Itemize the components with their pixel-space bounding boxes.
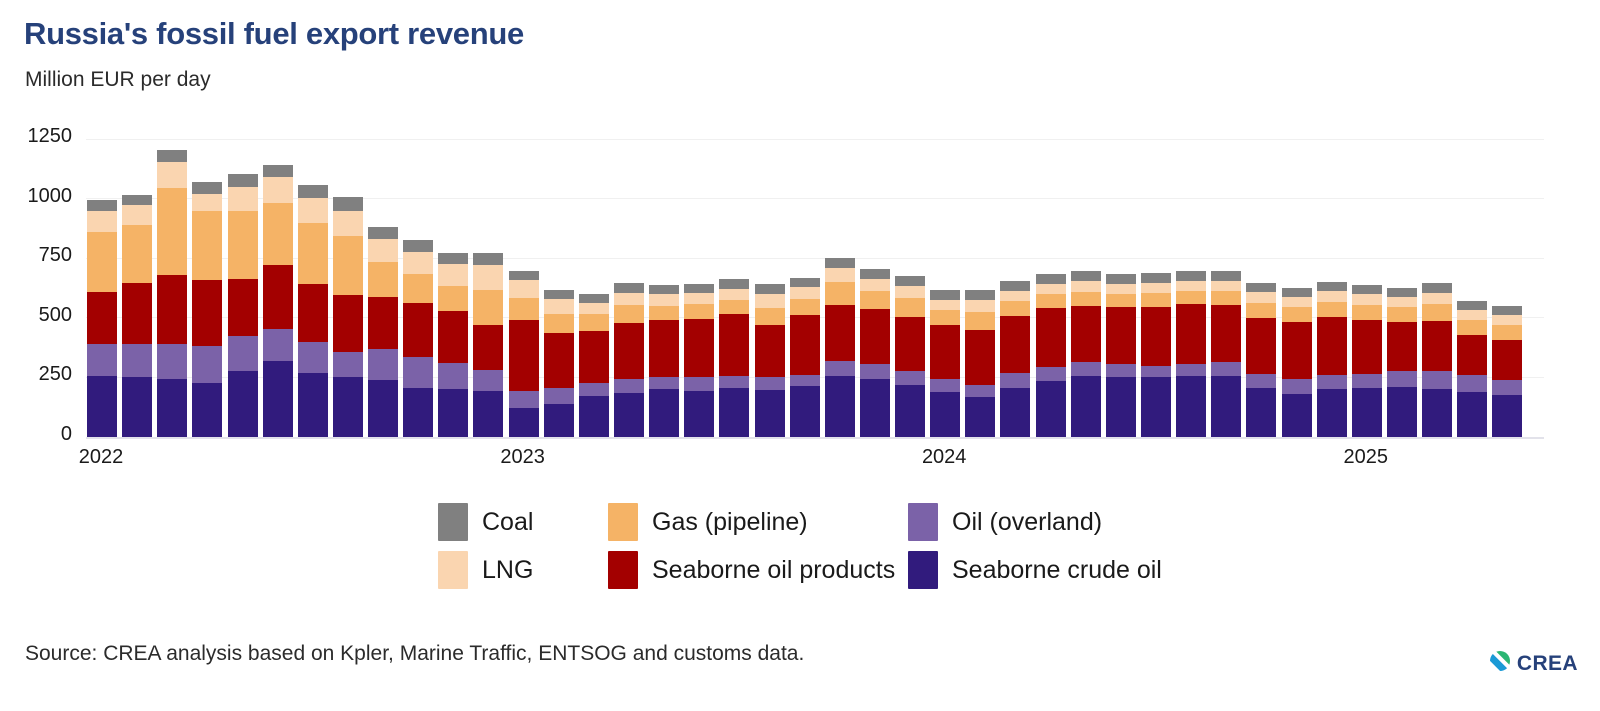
bar-2022-06[interactable] [263, 165, 293, 437]
bar-segment-gas-pipeline [473, 290, 503, 325]
bar-2022-10[interactable] [403, 240, 433, 437]
bar-segment-seaborne-oil-products [1071, 306, 1101, 362]
bar-segment-lng [1317, 291, 1347, 302]
bar-segment-seaborne-crude-oil [368, 380, 398, 437]
bar-segment-gas-pipeline [1352, 305, 1382, 320]
bar-segment-seaborne-crude-oil [544, 404, 574, 437]
bar-segment-seaborne-oil-products [649, 320, 679, 377]
legend-swatch-icon [438, 551, 468, 589]
bar-segment-lng [790, 287, 820, 299]
bar-segment-oil-overland [684, 377, 714, 390]
bar-segment-oil-overland [1000, 373, 1030, 388]
bar-segment-lng [755, 294, 785, 308]
bar-segment-seaborne-crude-oil [614, 393, 644, 437]
bar-segment-oil-overland [87, 344, 117, 376]
legend-label: Seaborne oil products [652, 556, 895, 585]
bar-segment-oil-overland [228, 336, 258, 372]
bar-segment-seaborne-crude-oil [1282, 394, 1312, 437]
bar-segment-gas-pipeline [790, 299, 820, 315]
bar-segment-seaborne-oil-products [509, 320, 539, 390]
bar-segment-seaborne-oil-products [87, 292, 117, 344]
bar-segment-coal [649, 285, 679, 294]
bar-segment-seaborne-crude-oil [1176, 376, 1206, 437]
bar-2023-04[interactable] [614, 283, 644, 437]
bar-segment-oil-overland [1317, 375, 1347, 390]
bar-segment-seaborne-crude-oil [1246, 388, 1276, 437]
bar-segment-gas-pipeline [1492, 325, 1522, 340]
bar-2023-02[interactable] [544, 290, 574, 437]
bar-segment-oil-overland [649, 377, 679, 389]
bar-segment-seaborne-crude-oil [228, 371, 258, 437]
bar-segment-lng [1071, 281, 1101, 292]
bar-2024-12[interactable] [1317, 282, 1347, 437]
bar-segment-seaborne-oil-products [1000, 316, 1030, 373]
bar-segment-gas-pipeline [1211, 291, 1241, 305]
bar-segment-coal [298, 185, 328, 198]
bar-segment-lng [333, 211, 363, 235]
bar-segment-seaborne-oil-products [1492, 340, 1522, 379]
bar-2024-07[interactable] [1141, 273, 1171, 437]
bar-segment-seaborne-oil-products [192, 280, 222, 346]
bar-segment-coal [1352, 285, 1382, 294]
bar-segment-seaborne-crude-oil [1317, 389, 1347, 437]
legend-swatch-icon [608, 551, 638, 589]
bar-segment-seaborne-oil-products [544, 333, 574, 388]
bar-segment-lng [438, 264, 468, 285]
legend-swatch-icon [608, 503, 638, 541]
bar-segment-coal [122, 195, 152, 205]
crea-logo: CREA [1489, 650, 1578, 677]
bar-segment-oil-overland [755, 377, 785, 390]
bar-segment-coal [719, 279, 749, 288]
bar-segment-gas-pipeline [1106, 294, 1136, 307]
bar-2022-04[interactable] [192, 182, 222, 437]
bar-segment-seaborne-oil-products [790, 315, 820, 375]
bar-segment-lng [298, 198, 328, 223]
bar-segment-oil-overland [544, 388, 574, 404]
bar-segment-lng [368, 239, 398, 262]
bar-segment-oil-overland [1492, 380, 1522, 395]
bar-segment-seaborne-oil-products [1211, 305, 1241, 362]
x-tick-label-2022: 2022 [79, 446, 124, 469]
bar-segment-lng [1352, 294, 1382, 305]
bar-segment-oil-overland [579, 383, 609, 397]
bar-segment-seaborne-oil-products [157, 275, 187, 344]
bar-2022-12[interactable] [473, 253, 503, 437]
bar-segment-seaborne-crude-oil [509, 408, 539, 437]
bar-segment-oil-overland [122, 344, 152, 377]
gridline-0 [86, 437, 1544, 439]
bar-segment-gas-pipeline [438, 286, 468, 311]
legend-item-oil-overland[interactable]: Oil (overland) [908, 503, 1208, 541]
bar-segment-lng [473, 265, 503, 291]
bar-segment-seaborne-crude-oil [192, 383, 222, 437]
bar-segment-oil-overland [368, 349, 398, 380]
bar-segment-coal [1422, 283, 1452, 293]
bar-segment-lng [263, 177, 293, 203]
bar-segment-seaborne-crude-oil [403, 388, 433, 437]
bar-segment-coal [1176, 271, 1206, 281]
y-tick-label-1250: 1250 [0, 125, 72, 148]
bar-segment-oil-overland [1457, 375, 1487, 392]
bar-segment-gas-pipeline [263, 203, 293, 265]
bar-segment-oil-overland [1036, 367, 1066, 380]
bar-segment-coal [544, 290, 574, 299]
chart-page: Russia's fossil fuel export revenue Mill… [0, 0, 1600, 711]
bar-segment-coal [895, 276, 925, 286]
bar-2024-08[interactable] [1176, 271, 1206, 437]
bar-segment-seaborne-oil-products [1352, 320, 1382, 374]
bar-2024-09[interactable] [1211, 271, 1241, 437]
bar-segment-lng [1176, 281, 1206, 291]
bar-2024-04[interactable] [1036, 274, 1066, 437]
bar-segment-lng [1141, 283, 1171, 294]
bar-segment-seaborne-crude-oil [157, 379, 187, 437]
bar-segment-gas-pipeline [649, 306, 679, 320]
bar-segment-seaborne-oil-products [579, 331, 609, 383]
bar-segment-seaborne-oil-products [263, 265, 293, 328]
bar-segment-seaborne-crude-oil [684, 391, 714, 437]
bar-segment-coal [1036, 274, 1066, 284]
bar-segment-seaborne-oil-products [755, 325, 785, 377]
bar-segment-oil-overland [157, 344, 187, 379]
bar-segment-lng [192, 194, 222, 211]
bar-segment-gas-pipeline [403, 274, 433, 303]
bar-segment-gas-pipeline [228, 211, 258, 279]
bar-segment-seaborne-crude-oil [1387, 387, 1417, 437]
bar-segment-coal [403, 240, 433, 252]
bar-segment-seaborne-crude-oil [87, 376, 117, 437]
bar-2022-02[interactable] [122, 195, 152, 437]
bar-segment-coal [263, 165, 293, 177]
bar-2024-11[interactable] [1282, 288, 1312, 437]
bar-segment-coal [1246, 283, 1276, 292]
bar-2025-02[interactable] [1387, 288, 1417, 437]
bar-segment-lng [1036, 284, 1066, 294]
legend-item-seaborne-crude-oil[interactable]: Seaborne crude oil [908, 551, 1208, 589]
bar-segment-lng [930, 300, 960, 311]
bar-2025-04[interactable] [1457, 301, 1487, 437]
bar-segment-gas-pipeline [1000, 301, 1030, 316]
bar-segment-lng [1211, 281, 1241, 292]
bar-segment-seaborne-oil-products [333, 295, 363, 352]
bar-2023-06[interactable] [684, 284, 714, 437]
bar-segment-seaborne-oil-products [930, 325, 960, 379]
legend-label: Oil (overland) [952, 508, 1102, 537]
bar-segment-coal [1141, 273, 1171, 283]
bar-segment-oil-overland [965, 385, 995, 397]
bar-segment-oil-overland [895, 371, 925, 385]
bar-segment-gas-pipeline [1317, 302, 1347, 317]
bar-segment-lng [579, 303, 609, 314]
bar-segment-oil-overland [263, 329, 293, 362]
y-tick-label-250: 250 [0, 363, 72, 386]
bar-segment-coal [157, 150, 187, 161]
bar-segment-seaborne-crude-oil [860, 379, 890, 437]
bar-segment-gas-pipeline [1282, 307, 1312, 322]
x-tick-label-2025: 2025 [1344, 446, 1389, 469]
bar-segment-gas-pipeline [1246, 303, 1276, 318]
bar-segment-lng [228, 187, 258, 211]
bar-segment-oil-overland [509, 391, 539, 408]
bar-2022-08[interactable] [333, 197, 363, 437]
bar-segment-oil-overland [1352, 374, 1382, 388]
bar-segment-oil-overland [192, 346, 222, 383]
bar-segment-coal [579, 294, 609, 303]
bar-segment-seaborne-oil-products [1176, 304, 1206, 364]
bar-segment-oil-overland [614, 379, 644, 394]
y-tick-label-750: 750 [0, 244, 72, 267]
bar-2023-11[interactable] [860, 269, 890, 437]
bar-segment-gas-pipeline [87, 232, 117, 292]
bar-segment-gas-pipeline [1176, 291, 1206, 304]
bar-segment-seaborne-crude-oil [930, 392, 960, 437]
bar-segment-gas-pipeline [333, 236, 363, 296]
plot-area [86, 139, 1544, 437]
chart-subtitle: Million EUR per day [25, 68, 211, 92]
legend-item-seaborne-oil-products[interactable]: Seaborne oil products [608, 551, 908, 589]
bar-segment-coal [684, 284, 714, 293]
bar-2023-12[interactable] [895, 276, 925, 437]
bar-2024-02[interactable] [965, 290, 995, 437]
bar-segment-gas-pipeline [719, 300, 749, 314]
bar-segment-lng [684, 293, 714, 304]
bar-segment-lng [544, 299, 574, 313]
bar-segment-seaborne-crude-oil [825, 376, 855, 438]
bar-segment-seaborne-crude-oil [790, 386, 820, 437]
bar-2025-01[interactable] [1352, 285, 1382, 437]
bar-segment-seaborne-oil-products [614, 323, 644, 378]
bar-segment-seaborne-crude-oil [579, 396, 609, 437]
bar-2022-03[interactable] [157, 150, 187, 437]
bar-segment-coal [192, 182, 222, 194]
bar-segment-oil-overland [1071, 362, 1101, 376]
bar-segment-seaborne-oil-products [368, 297, 398, 349]
bar-segment-coal [1457, 301, 1487, 310]
legend-item-lng[interactable]: LNG [438, 551, 608, 589]
bar-segment-lng [1492, 315, 1522, 325]
legend-swatch-icon [438, 503, 468, 541]
bar-segment-lng [403, 252, 433, 275]
bar-segment-seaborne-oil-products [1036, 308, 1066, 368]
bar-segment-coal [509, 271, 539, 281]
bar-segment-gas-pipeline [895, 298, 925, 317]
bar-2022-01[interactable] [87, 200, 117, 437]
bar-segment-seaborne-oil-products [1106, 307, 1136, 364]
bar-segment-oil-overland [1387, 371, 1417, 387]
bar-segment-seaborne-oil-products [895, 317, 925, 371]
legend-label: Gas (pipeline) [652, 508, 808, 537]
legend-swatch-icon [908, 551, 938, 589]
bar-segment-lng [1000, 291, 1030, 301]
bar-segment-seaborne-oil-products [1246, 318, 1276, 374]
bar-segment-lng [1457, 310, 1487, 321]
bar-segment-seaborne-oil-products [719, 314, 749, 376]
bar-segment-seaborne-crude-oil [895, 385, 925, 437]
bar-2024-05[interactable] [1071, 271, 1101, 437]
bar-segment-lng [965, 300, 995, 312]
bar-segment-lng [649, 294, 679, 306]
bar-segment-seaborne-crude-oil [1492, 395, 1522, 437]
bar-segment-coal [1317, 282, 1347, 292]
bar-segment-coal [438, 253, 468, 264]
bar-segment-oil-overland [1106, 364, 1136, 377]
bar-segment-seaborne-oil-products [860, 309, 890, 364]
bar-segment-gas-pipeline [544, 314, 574, 333]
bar-segment-seaborne-crude-oil [1000, 388, 1030, 437]
bar-segment-gas-pipeline [965, 312, 995, 331]
bar-segment-coal [1071, 271, 1101, 281]
bar-segment-seaborne-oil-products [1387, 322, 1417, 371]
bar-segment-seaborne-crude-oil [1071, 376, 1101, 437]
bar-segment-seaborne-crude-oil [755, 390, 785, 437]
bar-segment-lng [895, 286, 925, 298]
bar-segment-seaborne-crude-oil [1352, 388, 1382, 437]
bar-segment-coal [1106, 274, 1136, 284]
bar-segment-coal [825, 258, 855, 269]
crea-mark-icon [1489, 650, 1511, 677]
bar-segment-lng [1106, 284, 1136, 294]
bar-segment-lng [1246, 292, 1276, 303]
bar-segment-coal [1211, 271, 1241, 281]
bar-segment-gas-pipeline [298, 223, 328, 284]
bar-segment-seaborne-oil-products [122, 283, 152, 344]
bar-segment-seaborne-crude-oil [122, 377, 152, 437]
bar-segment-oil-overland [930, 379, 960, 391]
legend-item-gas-pipeline[interactable]: Gas (pipeline) [608, 503, 908, 541]
bar-segment-seaborne-crude-oil [1457, 392, 1487, 437]
bar-segment-gas-pipeline [614, 305, 644, 324]
bar-2023-05[interactable] [649, 285, 679, 437]
bar-segment-seaborne-oil-products [684, 319, 714, 377]
bar-segment-coal [755, 284, 785, 294]
bar-segment-coal [1282, 288, 1312, 297]
bar-2024-01[interactable] [930, 290, 960, 438]
bar-segment-gas-pipeline [192, 211, 222, 280]
bar-segment-gas-pipeline [1387, 307, 1417, 322]
bar-segment-oil-overland [719, 376, 749, 388]
bar-segment-lng [614, 293, 644, 305]
bar-segment-coal [228, 174, 258, 186]
legend-swatch-icon [908, 503, 938, 541]
bar-segment-coal [87, 200, 117, 211]
bar-segment-seaborne-crude-oil [649, 389, 679, 437]
bar-segment-seaborne-oil-products [438, 311, 468, 363]
legend-item-coal[interactable]: Coal [438, 503, 608, 541]
chart-legend: CoalGas (pipeline)Oil (overland)LNGSeabo… [438, 498, 1218, 594]
bar-segment-lng [1422, 293, 1452, 304]
y-tick-label-1000: 1000 [0, 185, 72, 208]
bar-2022-07[interactable] [298, 185, 328, 437]
bar-segment-seaborne-crude-oil [965, 397, 995, 437]
bar-segment-oil-overland [790, 375, 820, 387]
bar-2025-03[interactable] [1422, 283, 1452, 437]
bar-segment-seaborne-oil-products [1457, 335, 1487, 374]
bar-2022-11[interactable] [438, 253, 468, 437]
bar-segment-oil-overland [438, 363, 468, 389]
bar-segment-lng [87, 211, 117, 232]
bar-segment-oil-overland [333, 352, 363, 377]
bar-segment-lng [1387, 297, 1417, 307]
bar-segment-lng [825, 268, 855, 282]
bar-segment-seaborne-crude-oil [473, 391, 503, 437]
legend-label: Coal [482, 508, 533, 537]
bar-segment-gas-pipeline [579, 314, 609, 331]
y-tick-label-500: 500 [0, 304, 72, 327]
bar-segment-oil-overland [825, 361, 855, 376]
bar-2025-05[interactable] [1492, 306, 1522, 437]
bar-segment-oil-overland [1422, 371, 1452, 389]
bar-segment-oil-overland [473, 370, 503, 390]
source-note: Source: CREA analysis based on Kpler, Ma… [25, 642, 804, 666]
bar-2022-05[interactable] [228, 174, 258, 437]
bar-segment-seaborne-crude-oil [1211, 376, 1241, 437]
bar-2024-06[interactable] [1106, 274, 1136, 437]
y-tick-label-0: 0 [0, 423, 72, 446]
bar-2024-03[interactable] [1000, 281, 1030, 437]
bar-segment-coal [1492, 306, 1522, 315]
bar-segment-seaborne-oil-products [403, 303, 433, 357]
bar-segment-seaborne-crude-oil [1036, 381, 1066, 438]
bar-segment-seaborne-crude-oil [719, 388, 749, 437]
bar-segment-gas-pipeline [930, 310, 960, 325]
bar-series-group [86, 139, 1544, 437]
x-tick-label-2023: 2023 [500, 446, 545, 469]
bar-segment-gas-pipeline [509, 298, 539, 321]
bar-segment-oil-overland [1246, 374, 1276, 388]
bar-segment-lng [157, 162, 187, 188]
bar-segment-coal [1000, 281, 1030, 291]
bar-segment-seaborne-crude-oil [333, 377, 363, 437]
bar-segment-lng [509, 280, 539, 297]
bar-segment-seaborne-oil-products [1141, 307, 1171, 365]
bar-segment-seaborne-crude-oil [298, 373, 328, 437]
bar-2023-09[interactable] [790, 278, 820, 437]
bar-2022-09[interactable] [368, 227, 398, 437]
bar-segment-seaborne-crude-oil [263, 361, 293, 437]
bar-segment-oil-overland [860, 364, 890, 378]
bar-segment-oil-overland [1176, 364, 1206, 377]
crea-wordmark: CREA [1517, 652, 1578, 676]
bar-segment-seaborne-oil-products [473, 325, 503, 370]
bar-segment-coal [965, 290, 995, 300]
bar-2023-08[interactable] [755, 284, 785, 437]
bar-2023-03[interactable] [579, 294, 609, 437]
bar-segment-seaborne-oil-products [228, 279, 258, 336]
bar-2024-10[interactable] [1246, 283, 1276, 437]
bar-segment-lng [122, 205, 152, 225]
bar-segment-gas-pipeline [825, 282, 855, 305]
bar-segment-gas-pipeline [368, 262, 398, 297]
bar-segment-gas-pipeline [1036, 294, 1066, 308]
bar-segment-seaborne-crude-oil [1422, 389, 1452, 437]
bar-segment-seaborne-crude-oil [1141, 377, 1171, 437]
bar-segment-gas-pipeline [1422, 304, 1452, 321]
bar-2023-01[interactable] [509, 271, 539, 437]
bar-segment-gas-pipeline [1071, 292, 1101, 306]
bar-segment-oil-overland [1282, 379, 1312, 394]
bar-segment-seaborne-crude-oil [438, 389, 468, 437]
bar-segment-seaborne-crude-oil [1106, 377, 1136, 437]
bar-segment-seaborne-oil-products [825, 305, 855, 361]
bar-2023-07[interactable] [719, 279, 749, 437]
bar-2023-10[interactable] [825, 258, 855, 437]
bar-segment-seaborne-oil-products [1317, 317, 1347, 374]
bar-segment-seaborne-oil-products [298, 284, 328, 342]
bar-segment-oil-overland [1141, 366, 1171, 378]
bar-segment-coal [790, 278, 820, 287]
bar-segment-coal [614, 283, 644, 293]
